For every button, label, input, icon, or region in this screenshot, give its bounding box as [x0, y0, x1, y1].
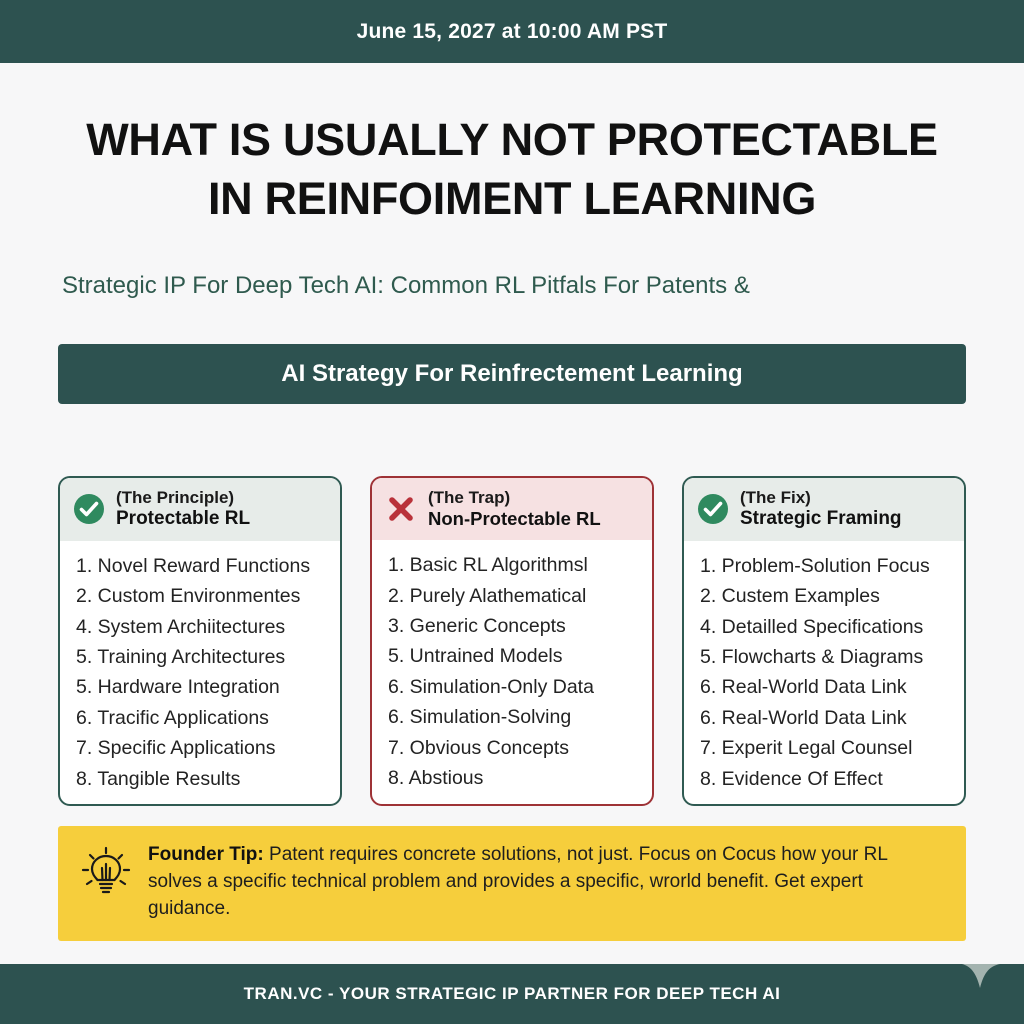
triangle-decoration-icon: [956, 958, 1006, 1004]
list-item: 7. Obvious Concepts: [388, 737, 642, 759]
list-item: 5. Flowcharts & Diagrams: [700, 646, 954, 668]
list-item: 2. Custem Examples: [700, 585, 954, 607]
datetime-label: June 15, 2027 at 10:00 AM PST: [357, 20, 668, 44]
list-item: 4. System Archiitectures: [76, 616, 330, 638]
card-title-group: (The Trap) Non-Protectable RL: [428, 488, 601, 529]
top-datetime-bar: June 15, 2027 at 10:00 AM PST: [0, 0, 1024, 63]
strategy-banner-label: AI Strategy For Reinfrectement Learning: [281, 360, 742, 388]
list-item: 5. Hardware Integration: [76, 676, 330, 698]
list-item: 7. Specific Applications: [76, 737, 330, 759]
card-name: Protectable RL: [116, 508, 250, 530]
card-list: 1. Novel Reward Functions 2. Custom Envi…: [60, 541, 340, 804]
list-item: 6. Real-World Data Link: [700, 676, 954, 698]
list-item: 4. Detailled Specifications: [700, 616, 954, 638]
list-item: 5. Training Architectures: [76, 646, 330, 668]
infographic-page: June 15, 2027 at 10:00 AM PST WHAT IS US…: [0, 0, 1024, 1024]
card-kicker: (The Fix): [740, 488, 902, 508]
card-non-protectable-rl[interactable]: (The Trap) Non-Protectable RL 1. Basic R…: [370, 476, 654, 806]
list-item: 2. Custom Environmentes: [76, 585, 330, 607]
check-circle-icon: [72, 492, 106, 526]
card-strategic-framing[interactable]: (The Fix) Strategic Framing 1. Problem-S…: [682, 476, 966, 806]
list-item: 6. Real-World Data Link: [700, 707, 954, 729]
footer-bar: TRAN.VC - YOUR STRATEGIC IP PARTNER FOR …: [0, 964, 1024, 1024]
founder-tip-label: Founder Tip:: [148, 844, 264, 865]
card-name: Strategic Framing: [740, 508, 902, 530]
card-header: (The Principle) Protectable RL: [60, 478, 340, 540]
lightbulb-icon: [78, 844, 134, 902]
main-content: WHAT IS USUALLY NOT PROTECTABLE IN REINF…: [0, 63, 1024, 964]
x-mark-icon: [384, 492, 418, 526]
list-item: 6. Simulation-Only Data: [388, 676, 642, 698]
card-kicker: (The Principle): [116, 488, 250, 508]
card-protectable-rl[interactable]: (The Principle) Protectable RL 1. Novel …: [58, 476, 342, 806]
strategy-banner: AI Strategy For Reinfrectement Learning: [58, 344, 966, 404]
list-item: 3. Generic Concepts: [388, 615, 642, 637]
card-name: Non-Protectable RL: [428, 508, 601, 529]
list-item: 8. Evidence Of Effect: [700, 768, 954, 790]
list-item: 8. Abstious: [388, 767, 642, 789]
list-item: 6. Tracific Applications: [76, 707, 330, 729]
card-list: 1. Basic RL Algorithmsl 2. Purely Alathe…: [372, 540, 652, 803]
founder-tip-text: Founder Tip: Patent requires concrete so…: [148, 842, 944, 923]
card-header: (The Fix) Strategic Framing: [684, 478, 964, 540]
card-title-group: (The Principle) Protectable RL: [116, 488, 250, 529]
list-item: 1. Problem-Solution Focus: [700, 555, 954, 577]
list-item: 2. Purely Alathematical: [388, 585, 642, 607]
list-item: 6. Simulation-Solving: [388, 706, 642, 728]
card-list: 1. Problem-Solution Focus 2. Custem Exam…: [684, 541, 964, 804]
cards-row: (The Principle) Protectable RL 1. Novel …: [58, 476, 966, 806]
page-title: WHAT IS USUALLY NOT PROTECTABLE IN REINF…: [58, 111, 966, 228]
list-item: 1. Novel Reward Functions: [76, 555, 330, 577]
card-title-group: (The Fix) Strategic Framing: [740, 488, 902, 529]
footer-label: TRAN.VC - YOUR STRATEGIC IP PARTNER FOR …: [244, 984, 781, 1004]
list-item: 5. Untrained Models: [388, 645, 642, 667]
list-item: 1. Basic RL Algorithmsl: [388, 554, 642, 576]
founder-tip-box: Founder Tip: Patent requires concrete so…: [58, 826, 966, 941]
list-item: 7. Experit Legal Counsel: [700, 737, 954, 759]
list-item: 8. Tangible Results: [76, 768, 330, 790]
check-circle-icon: [696, 492, 730, 526]
card-header: (The Trap) Non-Protectable RL: [372, 478, 652, 540]
page-subtitle: Strategic IP For Deep Tech AI: Common RL…: [58, 270, 966, 302]
card-kicker: (The Trap): [428, 488, 601, 508]
